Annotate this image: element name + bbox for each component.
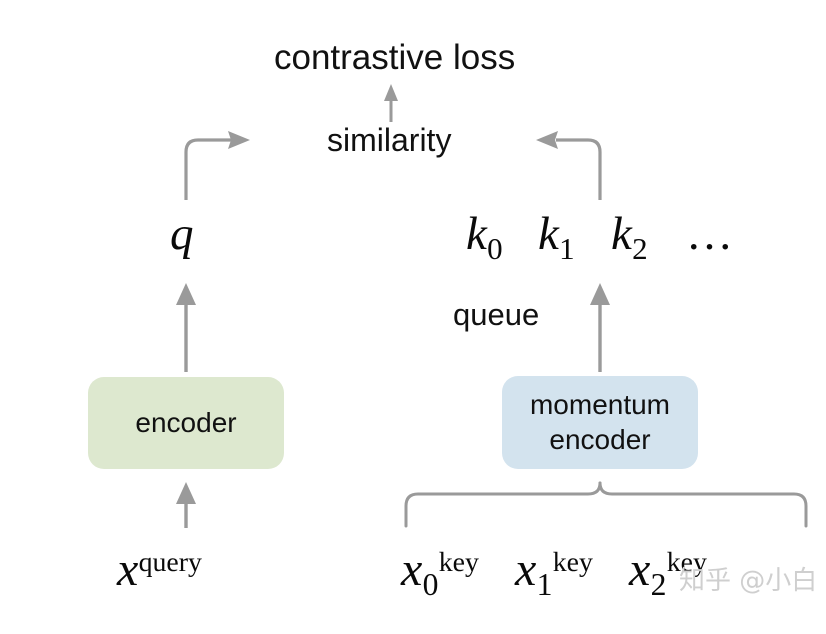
key-input-subscript-1: 1 — [537, 567, 553, 602]
arrow-q-to-similarity — [186, 131, 250, 200]
key-subscript-2: 2 — [632, 231, 648, 266]
query-vector-base: q — [170, 208, 194, 260]
query-input-base: x — [117, 543, 138, 596]
diagram-canvas: contrastive loss similarity queue q k0 k… — [0, 0, 826, 634]
key-symbol-2: k2 — [611, 211, 648, 264]
key-input-base-2: x — [629, 543, 650, 596]
arrow-query-input-to-encoder — [176, 482, 196, 528]
key-input-subscript-2: 2 — [651, 567, 667, 602]
key-input-symbol-1: x1key — [515, 546, 593, 601]
encoder-box-label: encoder — [135, 406, 236, 440]
momentum-encoder-box[interactable]: momentum encoder — [502, 376, 698, 469]
momentum-encoder-label-line2: encoder — [549, 423, 650, 457]
encoder-box[interactable]: encoder — [88, 377, 284, 469]
key-input-superscript-1: key — [553, 547, 593, 578]
key-input-subscript-0: 0 — [423, 567, 439, 602]
contrastive-loss-label: contrastive loss — [274, 40, 515, 75]
query-input-superscript: query — [139, 547, 202, 578]
key-base-2: k — [611, 208, 632, 260]
key-input-base-1: x — [515, 543, 536, 596]
key-input-base-0: x — [401, 543, 422, 596]
key-symbol-0: k0 — [466, 211, 503, 264]
momentum-encoder-label-line1: momentum — [530, 388, 670, 422]
brace-key-inputs — [406, 483, 806, 526]
connector-layer — [0, 0, 826, 634]
keys-ellipsis-glyph: … — [686, 208, 733, 260]
key-input-symbol-0: x0key — [401, 546, 479, 601]
query-vector-symbol: q — [170, 211, 194, 258]
watermark-text: 知乎 @小白 — [679, 568, 817, 594]
key-base-0: k — [466, 208, 487, 260]
key-subscript-0: 0 — [487, 231, 503, 266]
arrow-similarity-to-loss — [384, 84, 398, 122]
arrow-keys-to-similarity — [536, 131, 600, 200]
queue-label: queue — [453, 299, 539, 330]
key-input-superscript-0: key — [439, 547, 479, 578]
keys-ellipsis: … — [686, 211, 733, 258]
key-subscript-1: 1 — [559, 231, 575, 266]
query-input-symbol: xquery — [117, 546, 202, 594]
similarity-label: similarity — [327, 124, 451, 156]
arrow-encoder-to-q — [176, 283, 196, 372]
key-base-1: k — [538, 208, 559, 260]
arrow-momentum-encoder-to-keys — [590, 283, 610, 372]
key-symbol-1: k1 — [538, 211, 575, 264]
